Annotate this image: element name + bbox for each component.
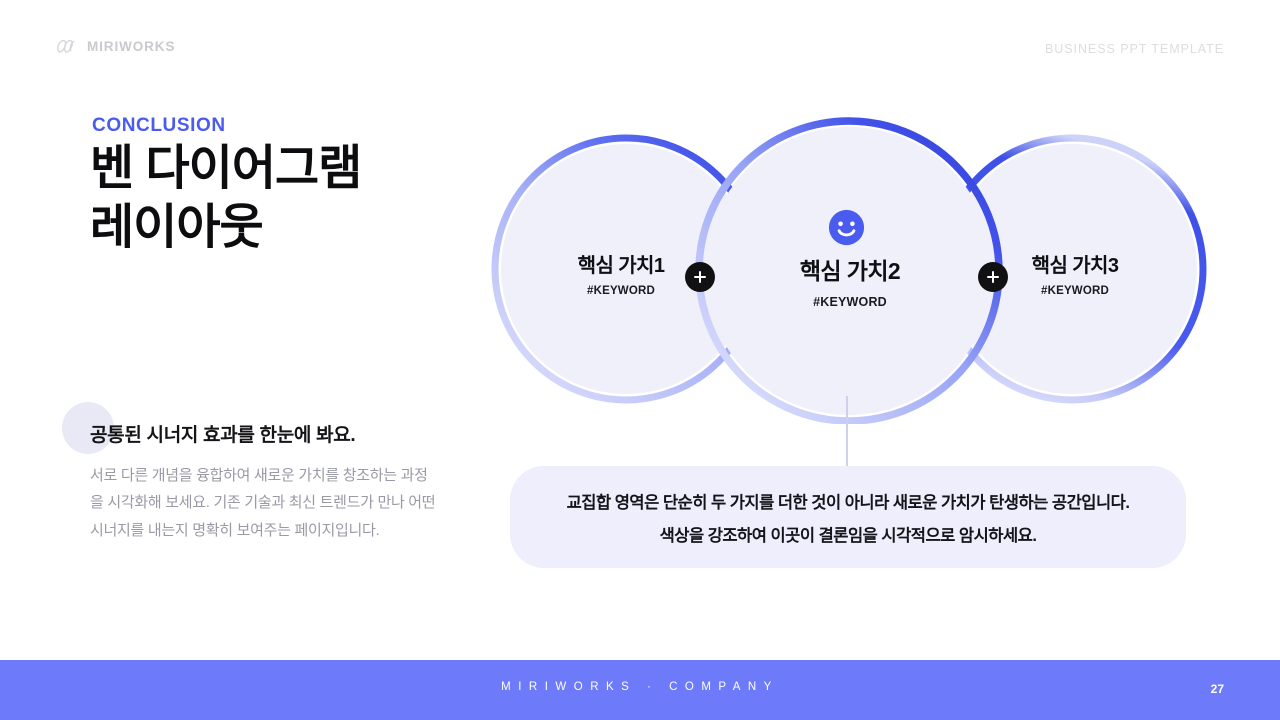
slide-root: MIRIWORKS BUSINESS PPT TEMPLATE CONCLUSI… <box>0 0 1280 720</box>
page-number: 27 <box>1211 682 1224 696</box>
overlapping-shapes-logo-icon <box>56 38 78 54</box>
left-subtitle: 공통된 시너지 효과를 한눈에 봐요. <box>90 420 490 447</box>
page-title: 벤 다이어그램 레이아웃 <box>90 140 510 257</box>
page-title-line-2: 레이아웃 <box>90 199 510 258</box>
venn-circle-2-label: 핵심 가치2 #KEYWORD <box>770 252 930 309</box>
venn-circle-2-title: 핵심 가치2 <box>770 252 930 286</box>
venn-circle-3-title: 핵심 가치3 <box>1000 249 1150 278</box>
callout-connector-line <box>846 396 848 468</box>
smiley-face-icon <box>828 209 865 246</box>
plus-icon-right[interactable] <box>978 262 1008 292</box>
brand-logo: MIRIWORKS <box>56 38 175 54</box>
header-tagline: BUSINESS PPT TEMPLATE <box>1045 42 1224 56</box>
venn-circle-3-label: 핵심 가치3 #KEYWORD <box>1000 249 1150 297</box>
page-title-line-1: 벤 다이어그램 <box>90 140 510 199</box>
section-eyebrow: CONCLUSION <box>92 115 226 137</box>
callout-line-2: 색상을 강조하여 이곳이 결론임을 시각적으로 암시하세요. <box>660 522 1037 546</box>
venn-circle-2-keyword: #KEYWORD <box>770 295 930 309</box>
venn-circle-1-title: 핵심 가치1 <box>546 249 696 278</box>
footer-text: MIRIWORKS · COMPANY <box>0 681 1280 693</box>
left-body-copy: 서로 다른 개념을 융합하여 새로운 가치를 창조하는 과정을 시각화해 보세요… <box>90 462 440 544</box>
venn-circle-1-keyword: #KEYWORD <box>546 285 696 297</box>
venn-circle-1-label: 핵심 가치1 #KEYWORD <box>546 249 696 297</box>
plus-icon-left[interactable] <box>685 262 715 292</box>
callout-box: 교집합 영역은 단순히 두 가지를 더한 것이 아니라 새로운 가치가 탄생하는… <box>510 466 1186 568</box>
venn-circle-3-keyword: #KEYWORD <box>1000 285 1150 297</box>
brand-logo-text: MIRIWORKS <box>87 39 175 54</box>
callout-line-1: 교집합 영역은 단순히 두 가지를 더한 것이 아니라 새로운 가치가 탄생하는… <box>567 489 1130 513</box>
